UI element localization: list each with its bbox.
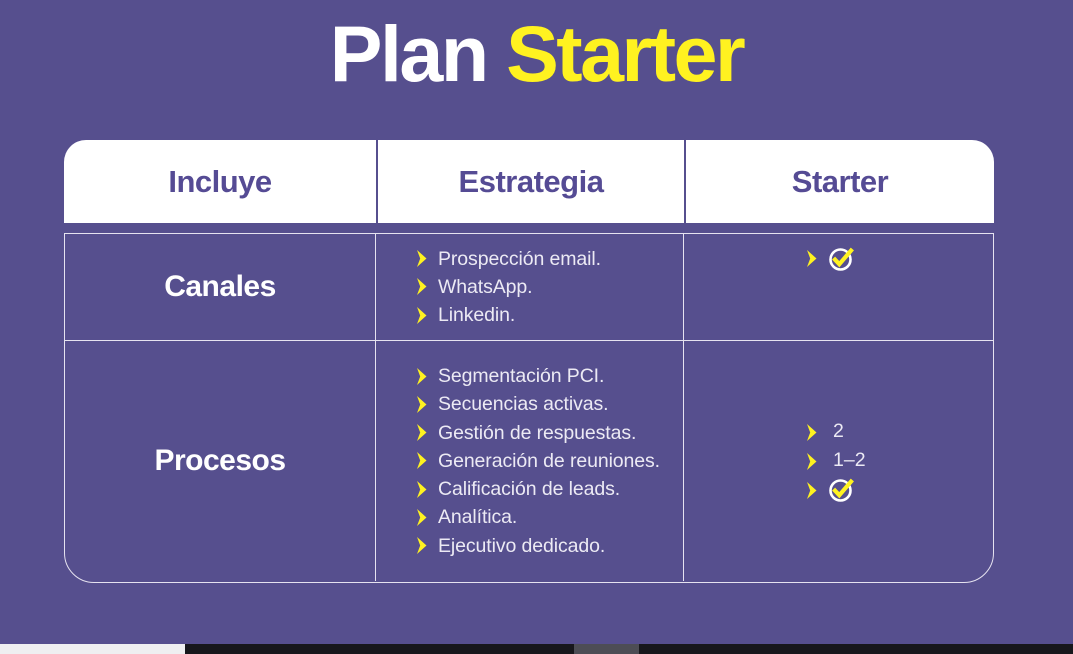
strategy-list: Prospección email. WhatsApp. Linkedin. <box>414 245 601 330</box>
list-item <box>804 244 854 273</box>
starter-cell-canales <box>683 234 993 340</box>
list-item-label: Linkedin. <box>438 301 515 329</box>
check-circle-icon <box>828 477 854 503</box>
row-label-cell-canales: Canales <box>65 234 375 340</box>
check-circle-icon <box>828 246 854 272</box>
row-label-cell-procesos: Procesos <box>65 341 375 581</box>
chevron-right-icon <box>414 480 431 499</box>
list-item: Secuencias activas. <box>414 390 660 418</box>
list-item: Generación de reuniones. <box>414 447 660 475</box>
chevron-right-icon <box>414 395 431 414</box>
list-item: 2 <box>804 418 866 447</box>
chevron-right-icon <box>414 508 431 527</box>
strategy-cell-procesos: Segmentación PCI. Secuencias activas. Ge… <box>375 341 683 581</box>
strategy-cell-canales: Prospección email. WhatsApp. Linkedin. <box>375 234 683 340</box>
list-item: Segmentación PCI. <box>414 362 660 390</box>
chevron-right-icon <box>414 451 431 470</box>
column-header-estrategia: Estrategia <box>376 140 684 223</box>
list-item <box>804 476 866 505</box>
starter-value-list <box>804 244 854 273</box>
list-item: 1–2 <box>804 447 866 476</box>
page-title: Plan Starter <box>0 14 1073 93</box>
list-item-label: Generación de reuniones. <box>438 447 660 475</box>
taskbar-segment-gray <box>574 644 639 654</box>
chevron-right-icon <box>414 536 431 555</box>
title-word-starter: Starter <box>506 9 743 98</box>
list-item: Prospección email. <box>414 245 601 273</box>
table-row: Canales Prospección email. WhatsApp. <box>65 234 993 341</box>
chevron-right-icon <box>414 367 431 386</box>
column-header-starter: Starter <box>684 140 994 223</box>
taskbar-segment-dark-right <box>639 644 1073 654</box>
list-item-label: Secuencias activas. <box>438 390 608 418</box>
chevron-right-icon <box>414 423 431 442</box>
chevron-right-icon <box>414 249 431 268</box>
table-body: Canales Prospección email. WhatsApp. <box>64 233 994 583</box>
list-item: Ejecutivo dedicado. <box>414 532 660 560</box>
row-label: Canales <box>164 270 276 304</box>
list-item: Linkedin. <box>414 301 601 329</box>
chevron-right-icon <box>414 306 431 325</box>
taskbar-segment-light <box>0 644 185 654</box>
starter-cell-procesos: 2 1–2 <box>683 341 993 581</box>
list-item-label: Prospección email. <box>438 245 601 273</box>
list-item: WhatsApp. <box>414 273 601 301</box>
chevron-right-icon <box>804 249 821 268</box>
chevron-right-icon <box>804 481 821 500</box>
taskbar-sliver <box>0 644 1073 654</box>
list-item-label: Gestión de respuestas. <box>438 419 636 447</box>
starter-value: 2 <box>828 417 844 447</box>
row-label: Procesos <box>154 444 285 478</box>
table-header: Incluye Estrategia Starter <box>64 140 994 223</box>
chevron-right-icon <box>804 423 821 442</box>
chevron-right-icon <box>414 277 431 296</box>
list-item-label: Ejecutivo dedicado. <box>438 532 605 560</box>
taskbar-segment-dark <box>185 644 574 654</box>
list-item-label: Calificación de leads. <box>438 475 620 503</box>
chevron-right-icon <box>804 452 821 471</box>
slide-root: Plan Starter Incluye Estrategia Starter … <box>0 0 1073 654</box>
title-word-plan: Plan <box>330 9 487 98</box>
starter-value: 1–2 <box>828 446 866 476</box>
list-item: Gestión de respuestas. <box>414 419 660 447</box>
column-header-incluye: Incluye <box>64 140 376 223</box>
table-row: Procesos Segmentación PCI. Secuencias <box>65 341 993 581</box>
strategy-list: Segmentación PCI. Secuencias activas. Ge… <box>414 362 660 560</box>
list-item: Calificación de leads. <box>414 475 660 503</box>
list-item: Analítica. <box>414 503 660 531</box>
list-item-label: Segmentación PCI. <box>438 362 604 390</box>
list-item-label: WhatsApp. <box>438 273 532 301</box>
list-item-label: Analítica. <box>438 503 517 531</box>
starter-value-list: 2 1–2 <box>804 418 866 505</box>
